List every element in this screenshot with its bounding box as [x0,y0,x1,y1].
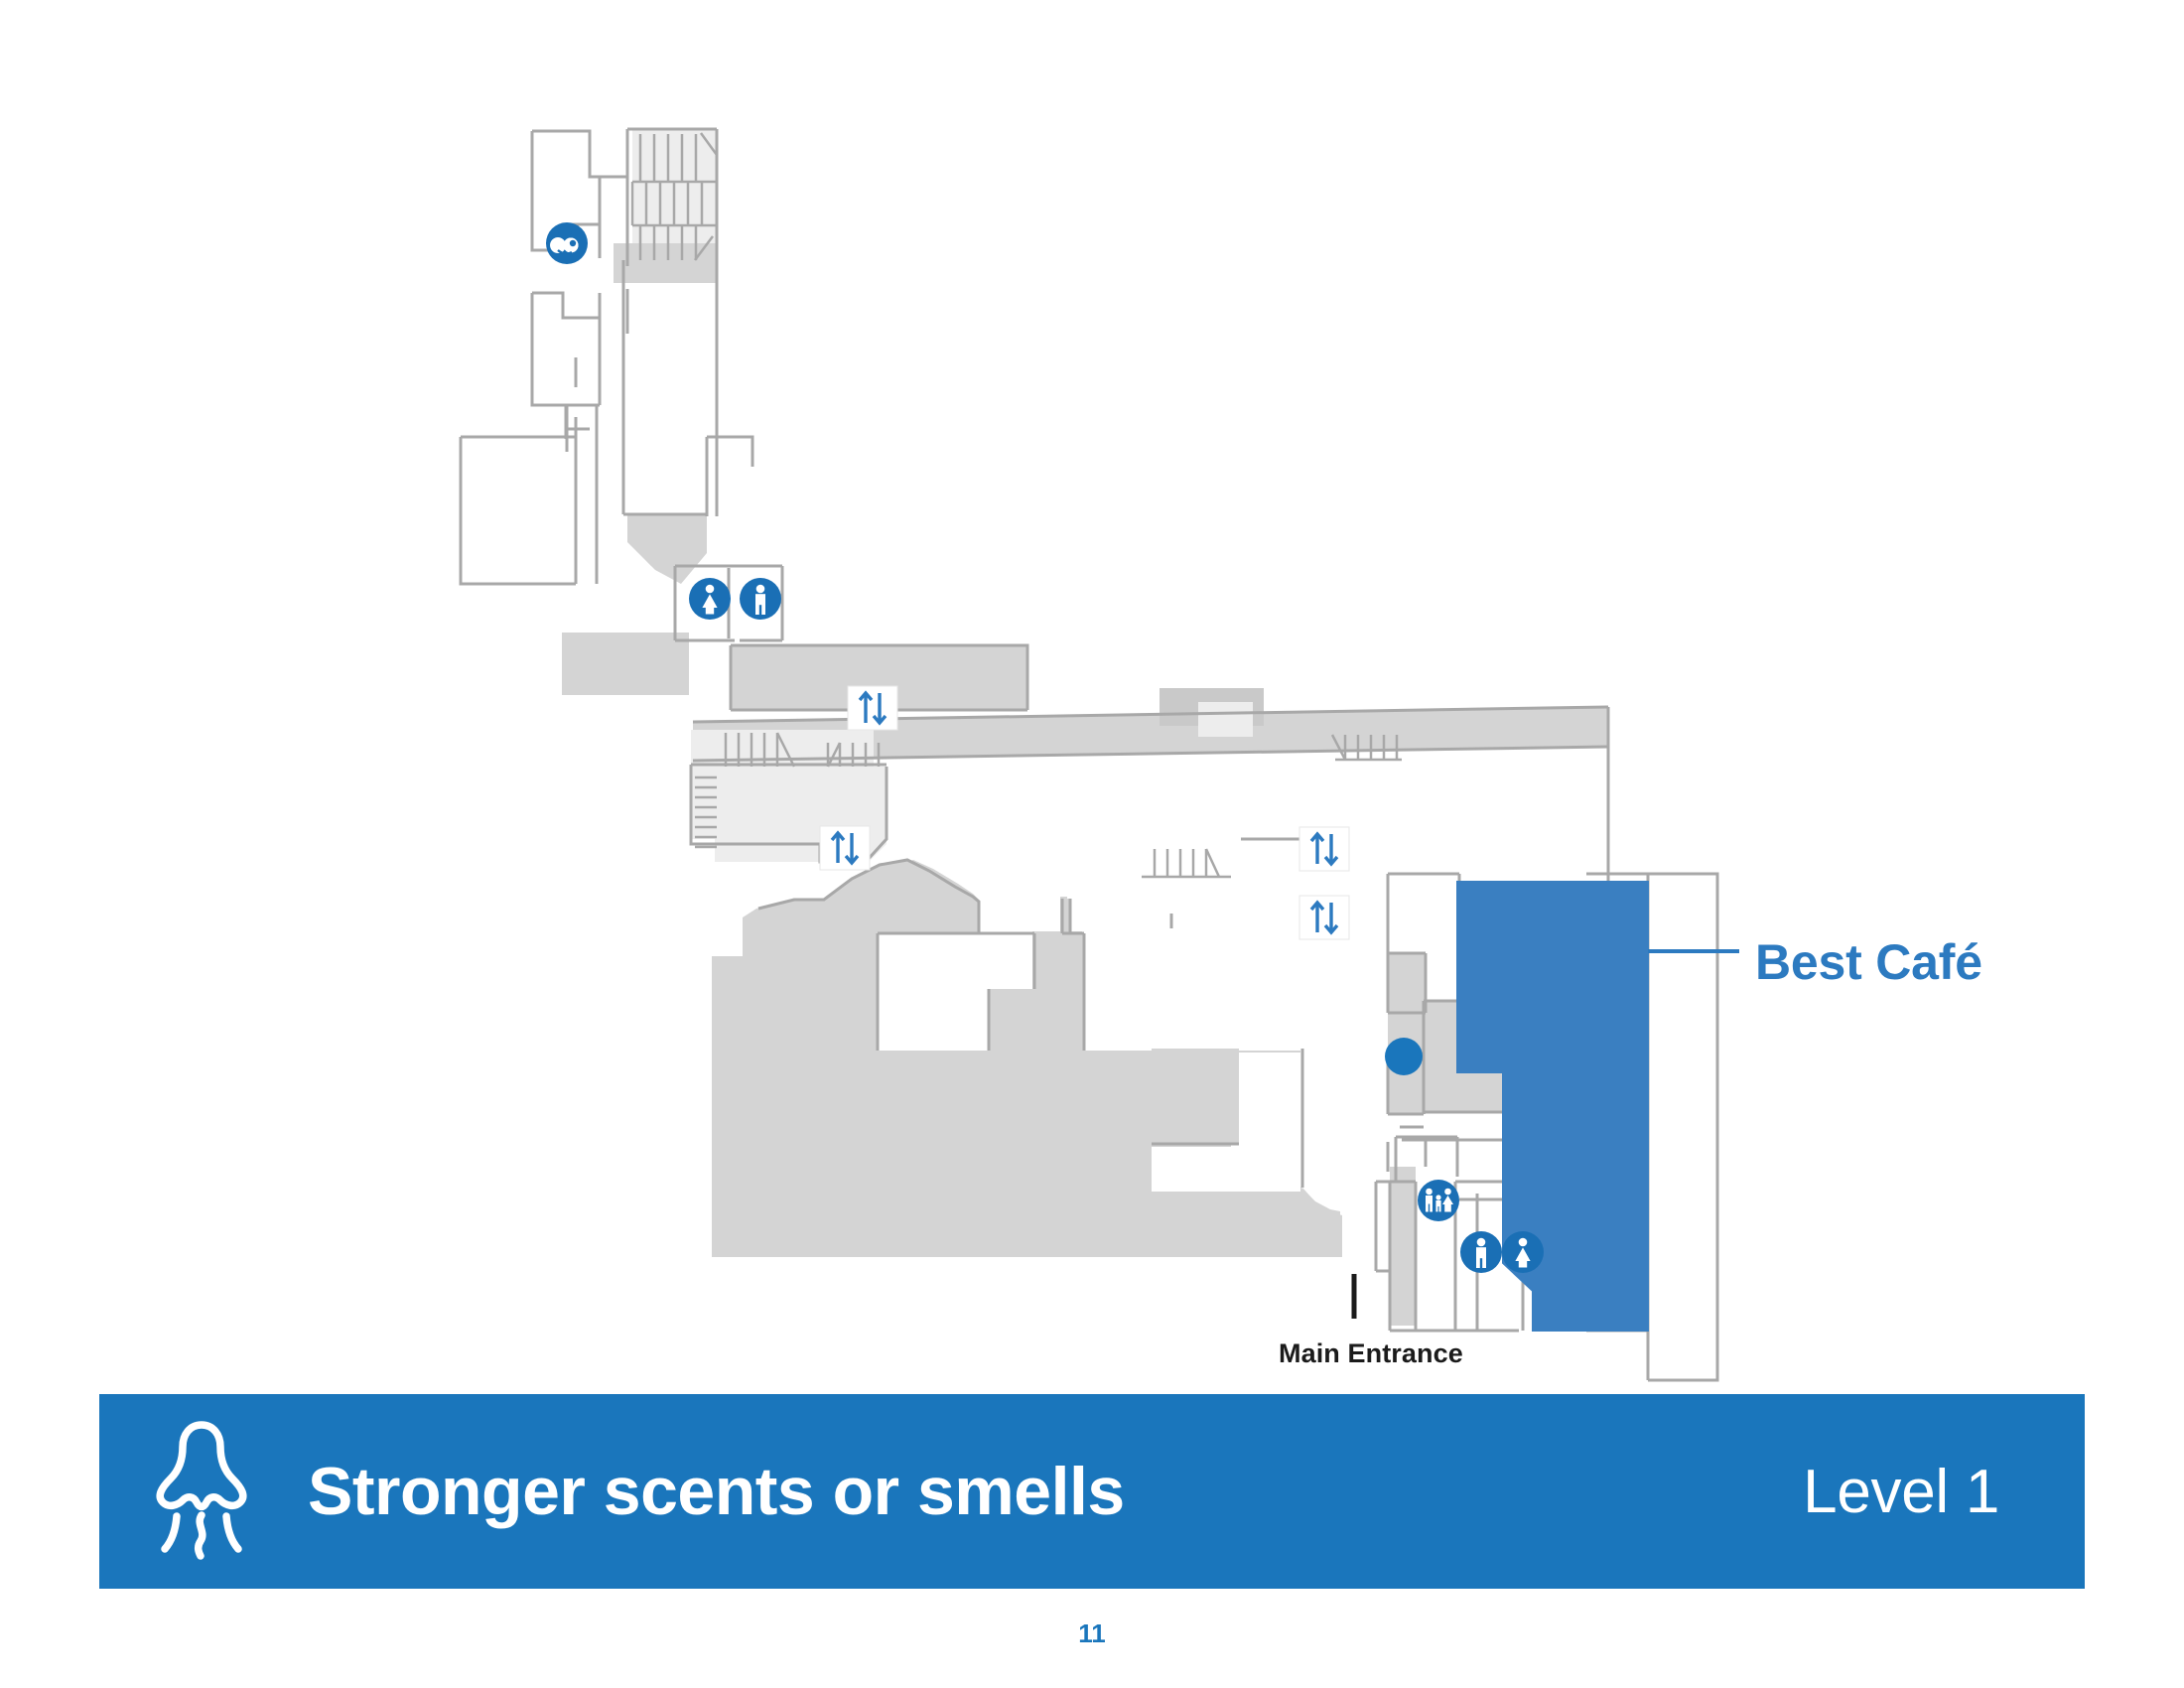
floor-plan-map[interactable]: Best Café Main Entrance [0,0,2184,1390]
toilet-family-icon[interactable] [1418,1180,1459,1221]
lift-updown-icon[interactable] [1299,827,1349,871]
best-cafe-label: Best Café [1755,933,1982,991]
nose-scent-icon [147,1417,256,1566]
banner-level-label: Level 1 [1803,1457,1999,1527]
toilet-female-icon[interactable] [689,578,731,620]
lift-updown-icon[interactable] [848,686,897,730]
toilet-female-icon[interactable] [1502,1231,1544,1273]
floor-plan-svg [0,0,2184,1390]
toilet-male-icon[interactable] [740,578,781,620]
category-banner: Stronger scents or smells Level 1 [99,1394,2085,1589]
toilet-male-icon[interactable] [1460,1231,1502,1273]
lift-updown-icon[interactable] [1299,896,1349,939]
banner-title: Stronger scents or smells [308,1453,1803,1530]
lift-updown-icon[interactable] [820,826,870,870]
page-number: 11 [0,1618,2184,1649]
plan-fill-areas [562,129,1608,1326]
slide-page: Best Café Main Entrance Stronger scents … [0,0,2184,1688]
main-entrance-label: Main Entrance [1279,1338,1463,1369]
baby-change-icon[interactable] [546,222,588,264]
location-dot-marker[interactable] [1385,1038,1423,1075]
